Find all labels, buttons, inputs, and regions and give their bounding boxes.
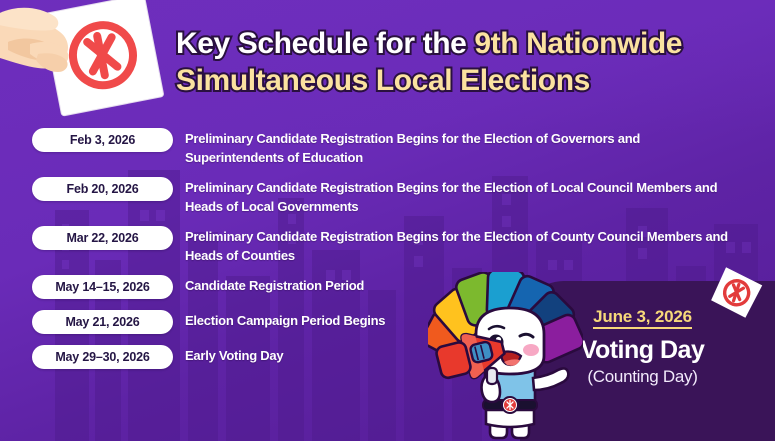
date-pill[interactable]: May 21, 2026 (32, 310, 173, 334)
schedule-description: Preliminary Candidate Registration Begin… (185, 128, 730, 168)
date-pill[interactable]: May 29–30, 2026 (32, 345, 173, 369)
stamped-ballot-icon (706, 266, 768, 324)
schedule-description: Election Campaign Period Begins (185, 310, 385, 331)
schedule-description: Preliminary Candidate Registration Begin… (185, 226, 730, 266)
title-line-2: Simultaneous Local Elections (176, 63, 756, 100)
date-pill[interactable]: Feb 20, 2026 (32, 177, 173, 201)
schedule-row: Feb 3, 2026 Preliminary Candidate Regist… (32, 128, 732, 171)
title-highlight-1: 9th Nationwide (474, 27, 682, 60)
schedule-description: Candidate Registration Period (185, 275, 364, 296)
election-mascot (428, 272, 583, 441)
schedule-description: Preliminary Candidate Registration Begin… (185, 177, 730, 217)
title-line-1: Key Schedule for the 9th Nationwide (176, 26, 756, 63)
schedule-row: Mar 22, 2026 Preliminary Candidate Regis… (32, 226, 732, 269)
voting-day-date-text: June 3, 2026 (593, 307, 692, 329)
date-pill[interactable]: Feb 3, 2026 (32, 128, 173, 152)
poster-header: Key Schedule for the 9th Nationwide Simu… (0, 0, 775, 118)
infographic-poster: Key Schedule for the 9th Nationwide Simu… (0, 0, 775, 441)
title-plain: Key Schedule for the (176, 27, 474, 60)
schedule-description: Early Voting Day (185, 345, 283, 366)
schedule-row: Feb 20, 2026 Preliminary Candidate Regis… (32, 177, 732, 220)
date-pill[interactable]: May 14–15, 2026 (32, 275, 173, 299)
hand-holding-ballot-illustration (0, 0, 174, 124)
date-pill[interactable]: Mar 22, 2026 (32, 226, 173, 250)
title-highlight-2: Simultaneous Local Elections (176, 64, 590, 97)
title-block: Key Schedule for the 9th Nationwide Simu… (176, 26, 756, 99)
